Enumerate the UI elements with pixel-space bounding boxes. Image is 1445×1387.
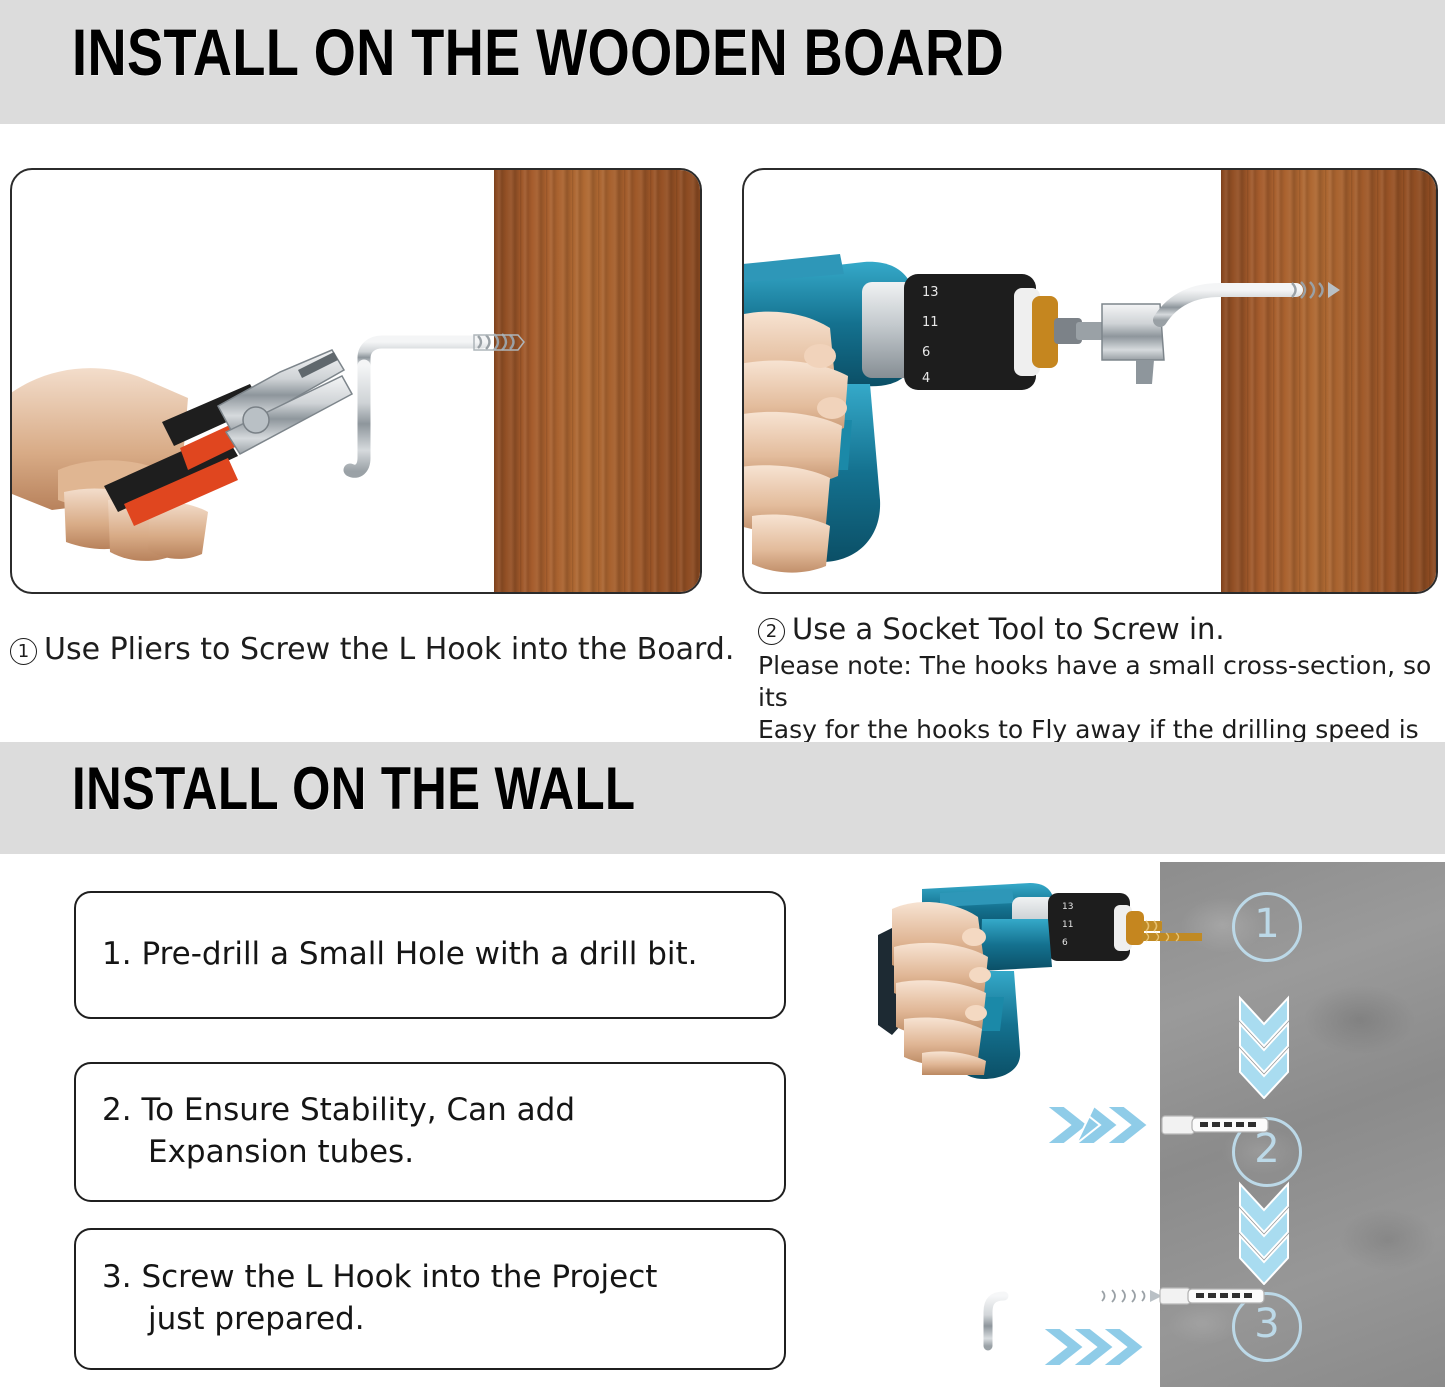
pliers-hook-photo [10,168,702,594]
wall-step-1-line1: Pre-drill a Small Hole with a drill bit. [141,936,697,972]
svg-text:11: 11 [1062,920,1073,930]
wall-drill-photo: 13116 [862,875,1162,1080]
caption-step-2-text: Use a Socket Tool to Screw in. [792,612,1225,646]
l-hook-into-anchor-step3 [982,1270,1272,1375]
circled-number-2: 2 [758,618,785,645]
l-hook-graphic [350,334,524,471]
drill-socket-photo: 1311 64 [742,168,1438,594]
svg-text:11: 11 [922,315,939,330]
l-hook-graphic [988,1290,1162,1346]
caption-note-line-1: Please note: The hooks have a small cros… [758,650,1445,714]
wall-installation-illustration: 13116 1 2 3 [812,862,1445,1387]
wall-step-3-line1: Screw the L Hook into the Project [141,1259,657,1295]
section-title-wall: INSTALL ON THE WALL [72,754,636,823]
section-header-wooden-board: INSTALL ON THE WOODEN BOARD [0,0,1445,124]
svg-text:6: 6 [922,345,930,360]
wall-step-2-number: 2. [102,1092,132,1128]
section-header-wall: INSTALL ON THE WALL [0,742,1445,854]
section-title-wooden-board: INSTALL ON THE WOODEN BOARD [72,14,1004,90]
right-chevron-arrow [1046,1106,1148,1144]
caption-step-1: 1Use Pliers to Screw the L Hook into the… [10,632,734,667]
svg-text:6: 6 [1062,938,1068,948]
anchor-graphic [1162,1116,1268,1134]
wall-marker-1: 1 [1232,892,1302,962]
hand-graphic [892,902,991,1075]
wall-step-3-number: 3. [102,1259,132,1295]
right-chevron-arrow [1042,1328,1144,1366]
down-chevron-arrow-1 [1236,994,1292,1099]
wall-step-box-1: 1. Pre-drill a Small Hole with a drill b… [74,891,786,1019]
anchor-graphic [1160,1288,1264,1304]
svg-text:4: 4 [922,371,930,386]
wall-step-box-3: 3. Screw the L Hook into the Project jus… [74,1228,786,1370]
wall-step-2-line1: To Ensure Stability, Can add [141,1092,575,1128]
socket-tool-graphic [1076,304,1164,384]
wall-step-1-number: 1. [102,936,132,972]
wall-step-box-2: 2. To Ensure Stability, Can add Expansio… [74,1062,786,1202]
expansion-anchor-step2 [1042,1100,1272,1160]
l-hook-graphic [1160,282,1340,320]
svg-text:13: 13 [922,285,939,300]
wall-step-3-line2: just prepared. [102,1299,657,1341]
svg-text:13: 13 [1062,902,1073,912]
drill-bit-graphic [1142,922,1232,952]
caption-step-1-text: Use Pliers to Screw the L Hook into the … [44,632,734,667]
wall-step-2-line2: Expansion tubes. [102,1132,575,1174]
circled-number-1: 1 [10,638,37,665]
